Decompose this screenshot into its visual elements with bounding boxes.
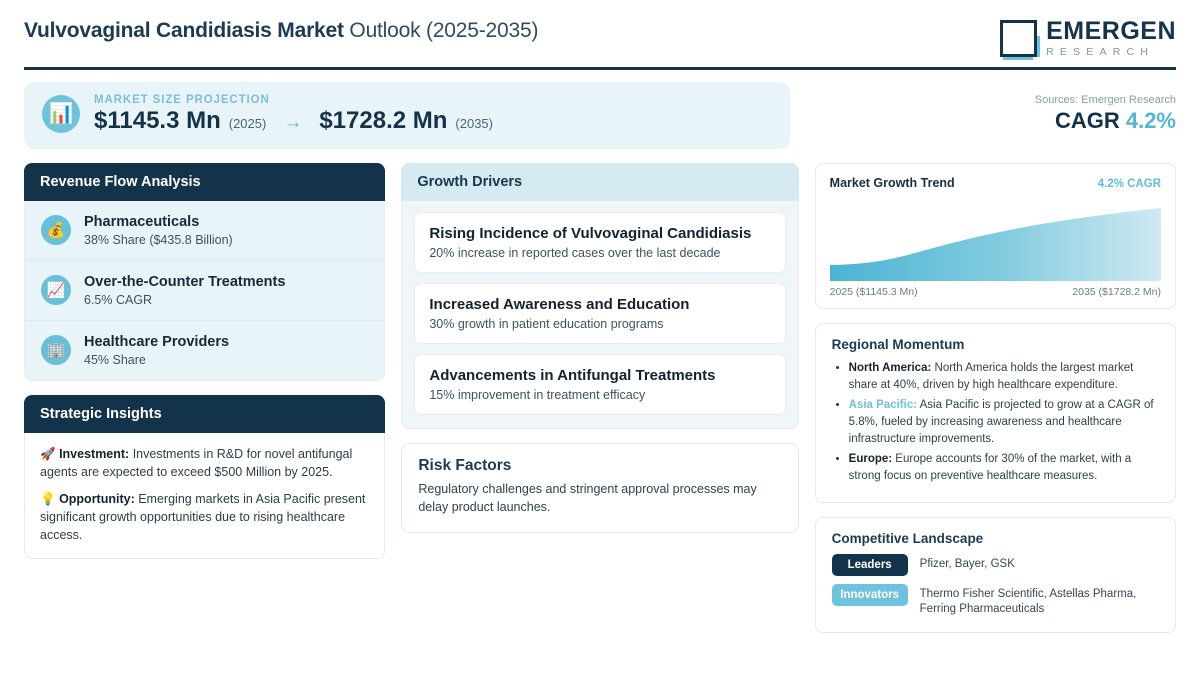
risk-factors-title: Risk Factors <box>418 457 781 475</box>
insight-label: Investment: <box>59 447 129 461</box>
growth-drivers-panel: Growth Drivers Rising Incidence of Vulvo… <box>401 163 798 429</box>
middle-column: Growth Drivers Rising Incidence of Vulvo… <box>401 163 798 533</box>
list-item-detail: 38% Share ($435.8 Billion) <box>84 233 233 247</box>
growth-driver-title: Rising Incidence of Vulvovaginal Candidi… <box>429 224 770 243</box>
page-header: Vulvovaginal Candidiasis Market Outlook … <box>24 0 1176 58</box>
risk-factors-body: Regulatory challenges and stringent appr… <box>418 480 781 516</box>
list-item[interactable]: 🏢 Healthcare Providers 45% Share <box>25 321 384 380</box>
insight-item: 💡 Opportunity: Emerging markets in Asia … <box>40 490 369 544</box>
status-badge-leaders: Leaders <box>832 554 908 576</box>
region-item: Europe: Europe accounts for 30% of the m… <box>849 451 1159 485</box>
lightbulb-icon: 💡 <box>40 492 56 506</box>
money-bag-icon: 💰 <box>41 215 71 245</box>
strategic-insights-title: Strategic Insights <box>24 395 385 433</box>
chart-increasing-icon: 📈 <box>41 275 71 305</box>
region-name: Europe: <box>849 453 892 465</box>
strategic-insights-body: 🚀 Investment: Investments in R&D for nov… <box>24 433 385 559</box>
list-item-title: Pharmaceuticals <box>84 214 233 231</box>
page-title-bold: Vulvovaginal Candidiasis Market <box>24 19 344 42</box>
growth-driver-title: Advancements in Antifungal Treatments <box>429 366 770 385</box>
regional-momentum-list: North America: North America holds the l… <box>832 360 1159 485</box>
market-size-2025: $1145.3 Mn <box>94 107 221 135</box>
growth-driver-sub: 30% growth in patient education programs <box>429 317 770 331</box>
list-item-title: Over-the-Counter Treatments <box>84 274 285 291</box>
arrow-right-icon: → <box>274 112 311 134</box>
strategic-insights-panel: Strategic Insights 🚀 Investment: Investm… <box>24 395 385 559</box>
status-badge-innovators: Innovators <box>832 584 908 606</box>
cagr-headline: CAGR 4.2% <box>1035 108 1176 134</box>
cagr-summary: Sources: Emergen Research CAGR 4.2% <box>1035 82 1176 134</box>
leaders-value: Pfizer, Bayer, GSK <box>920 554 1015 572</box>
page-title-light: Outlook (2025-2035) <box>344 19 538 42</box>
office-building-icon: 🏢 <box>41 335 71 365</box>
logo-wordmark: EMERGEN <box>1046 19 1176 44</box>
growth-driver-sub: 15% improvement in treatment efficacy <box>429 388 770 402</box>
insight-label: Opportunity: <box>59 492 135 506</box>
region-name: Asia Pacific: <box>849 399 917 411</box>
logo-tagline: RESEARCH <box>1046 47 1176 58</box>
logo-text: EMERGEN RESEARCH <box>1046 19 1176 58</box>
list-item[interactable]: 💰 Pharmaceuticals 38% Share ($435.8 Bill… <box>25 201 384 261</box>
chart-cagr-badge: 4.2% CAGR <box>1098 178 1161 190</box>
chart-axis-labels: 2025 ($1145.3 Mn) 2035 ($1728.2 Mn) <box>830 286 1161 298</box>
revenue-flow-list: 💰 Pharmaceuticals 38% Share ($435.8 Bill… <box>24 201 385 381</box>
right-column: Market Growth Trend 4.2% CAGR <box>815 163 1176 633</box>
cagr-value: 4.2% <box>1126 108 1176 133</box>
chart-axis-start: 2025 ($1145.3 Mn) <box>830 286 918 298</box>
growth-driver-title: Increased Awareness and Education <box>429 295 770 314</box>
list-item[interactable]: 📈 Over-the-Counter Treatments 6.5% CAGR <box>25 261 384 321</box>
brand-logo: EMERGEN RESEARCH <box>1000 16 1176 58</box>
landscape-row: Leaders Pfizer, Bayer, GSK <box>832 554 1159 576</box>
region-item: North America: North America holds the l… <box>849 360 1159 394</box>
growth-driver-sub: 20% increase in reported cases over the … <box>429 246 770 260</box>
growth-drivers-list: Rising Incidence of Vulvovaginal Candidi… <box>401 201 798 429</box>
chart-axis-end: 2035 ($1728.2 Mn) <box>1072 286 1161 298</box>
rocket-icon: 🚀 <box>40 447 56 461</box>
left-column: Revenue Flow Analysis 💰 Pharmaceuticals … <box>24 163 385 559</box>
revenue-flow-title: Revenue Flow Analysis <box>24 163 385 201</box>
insight-item: 🚀 Investment: Investments in R&D for nov… <box>40 445 369 481</box>
landscape-row: Innovators Thermo Fisher Scientific, Ast… <box>832 584 1159 617</box>
growth-driver-card[interactable]: Increased Awareness and Education 30% gr… <box>414 283 785 344</box>
market-size-2025-year: (2025) <box>229 116 267 131</box>
market-size-projection-card: 📊 MARKET SIZE PROJECTION $1145.3 Mn (202… <box>24 82 790 149</box>
region-text: Europe accounts for 30% of the market, w… <box>849 453 1132 482</box>
infographic-page: Vulvovaginal Candidiasis Market Outlook … <box>0 0 1200 700</box>
competitive-landscape-title: Competitive Landscape <box>832 531 1159 546</box>
content-columns: Revenue Flow Analysis 💰 Pharmaceuticals … <box>24 163 1176 633</box>
chart-title: Market Growth Trend <box>830 176 955 190</box>
hero-values: $1145.3 Mn (2025) → $1728.2 Mn (2035) <box>94 107 493 135</box>
sources-text: Sources: Emergen Research <box>1035 94 1176 106</box>
chart-header: Market Growth Trend 4.2% CAGR <box>830 176 1161 190</box>
competitive-landscape-card: Competitive Landscape Leaders Pfizer, Ba… <box>815 517 1176 633</box>
revenue-flow-panel: Revenue Flow Analysis 💰 Pharmaceuticals … <box>24 163 385 381</box>
innovators-value: Thermo Fisher Scientific, Astellas Pharm… <box>920 584 1159 617</box>
growth-driver-card[interactable]: Advancements in Antifungal Treatments 15… <box>414 354 785 415</box>
bar-chart-icon: 📊 <box>42 95 80 133</box>
list-item-detail: 6.5% CAGR <box>84 293 285 307</box>
market-size-2035-year: (2035) <box>455 116 493 131</box>
header-divider <box>24 67 1176 70</box>
region-item: Asia Pacific: Asia Pacific is projected … <box>849 397 1159 448</box>
hero-row: 📊 MARKET SIZE PROJECTION $1145.3 Mn (202… <box>24 82 1176 149</box>
hero-label: MARKET SIZE PROJECTION <box>94 94 493 106</box>
area-chart-svg <box>830 199 1161 281</box>
market-size-2035: $1728.2 Mn <box>319 107 447 135</box>
risk-factors-card: Risk Factors Regulatory challenges and s… <box>401 443 798 533</box>
growth-driver-card[interactable]: Rising Incidence of Vulvovaginal Candidi… <box>414 212 785 273</box>
area-chart <box>830 199 1161 281</box>
market-growth-trend-card: Market Growth Trend 4.2% CAGR <box>815 163 1176 309</box>
logo-square-icon <box>1000 20 1037 57</box>
cagr-label: CAGR <box>1055 108 1120 133</box>
list-item-title: Healthcare Providers <box>84 334 229 351</box>
regional-momentum-card: Regional Momentum North America: North A… <box>815 323 1176 503</box>
list-item-detail: 45% Share <box>84 353 229 367</box>
regional-momentum-title: Regional Momentum <box>832 337 1159 352</box>
page-title: Vulvovaginal Candidiasis Market Outlook … <box>24 16 538 46</box>
growth-drivers-title: Growth Drivers <box>401 163 798 201</box>
region-name: North America: <box>849 362 932 374</box>
